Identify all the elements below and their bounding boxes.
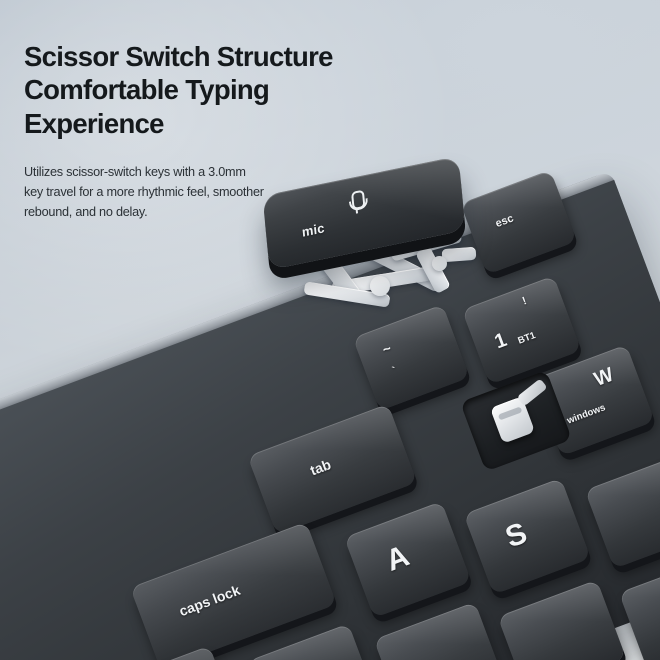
scissor-stem [490, 396, 535, 444]
key-bottom-extra-1[interactable] [497, 580, 626, 660]
microphone-icon-arc [349, 198, 369, 212]
key-caps-lock-legend: caps lock [177, 582, 242, 619]
key-grave[interactable]: ~ ` [353, 304, 470, 411]
key-1-sublegend: BT1 [516, 330, 537, 347]
detached-keycap-label: mic [301, 220, 325, 240]
microphone-icon [348, 190, 365, 215]
key-grave-sublegend: ` [391, 365, 399, 378]
scissor-pivot [432, 256, 447, 271]
key-a[interactable]: A [344, 501, 472, 618]
key-s-legend: S [501, 517, 532, 556]
key-s[interactable]: S [463, 478, 591, 595]
key-1-legend: 1 [492, 329, 510, 354]
detached-keycap[interactable]: mic [264, 176, 479, 311]
key-tab[interactable]: tab [247, 404, 417, 535]
key-home-extra[interactable] [585, 455, 660, 569]
key-grave-legend: ~ [380, 340, 393, 358]
body-paragraph: Utilizes scissor-switch keys with a 3.0m… [24, 162, 304, 222]
key-bottom-extra-2[interactable] [619, 556, 660, 660]
key-tab-legend: tab [308, 456, 333, 478]
headline: Scissor Switch Structure Comfortable Typ… [24, 40, 424, 140]
key-w-legend: W [591, 364, 617, 392]
key-1-toplegend: ! [521, 295, 529, 308]
key-esc-legend: esc [494, 212, 515, 230]
key-w-sublegend: windows [566, 402, 607, 426]
microphone-icon-post [356, 208, 359, 213]
key-a-legend: A [382, 539, 414, 578]
scissor-arm [517, 378, 548, 406]
scissor-pivot [370, 276, 390, 296]
scissor-bar [442, 247, 477, 262]
product-feature-banner: Scissor Switch Structure Comfortable Typ… [0, 0, 660, 660]
